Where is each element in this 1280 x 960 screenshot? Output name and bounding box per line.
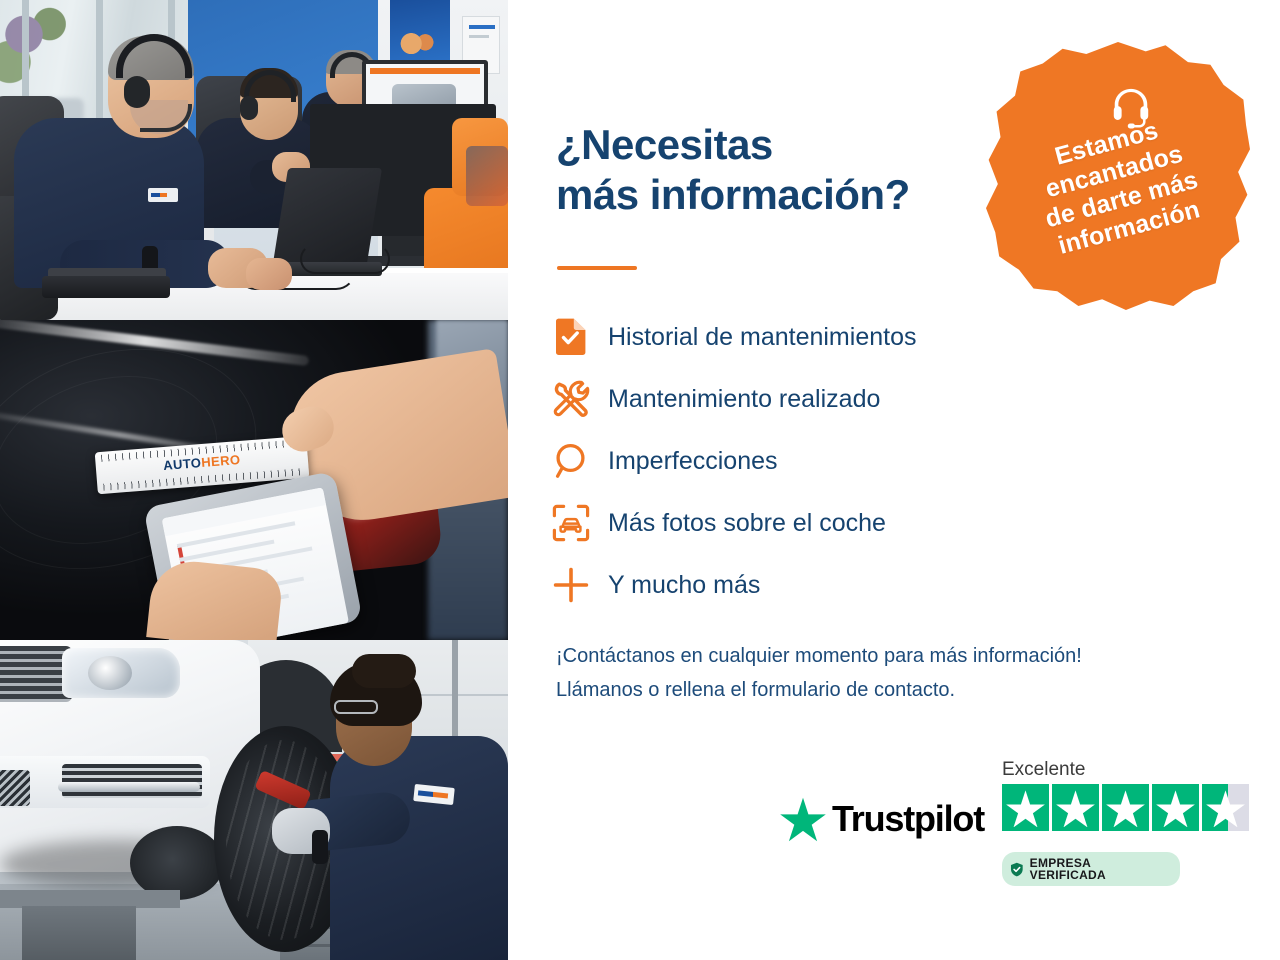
feature-item-mantenimiento: Mantenimiento realizado [552, 368, 1112, 430]
wall-poster [390, 0, 450, 60]
bumper-vent [62, 764, 202, 798]
contact-line-2: Llámanos o rellena el formulario de cont… [556, 679, 955, 701]
feature-label: Y mucho más [608, 570, 760, 600]
mechanic-body [330, 736, 508, 960]
title-underline-rule [557, 266, 637, 270]
contact-paragraph: ¡Contáctanos en cualquier momento para m… [556, 640, 1236, 707]
magnifier-icon [552, 442, 608, 480]
trustpilot-wordmark: Trustpilot [832, 801, 984, 837]
support-badge: Estamos encantados de darte más informac… [986, 42, 1250, 310]
page-title-line-2: más información? [556, 171, 910, 218]
mechanic-hair [352, 654, 416, 688]
desk-cable [300, 244, 390, 274]
car-scan-icon [552, 504, 608, 542]
promo-page: AUTOHERO [0, 0, 1280, 960]
mechanic-watch [312, 830, 328, 864]
star-filled [1152, 784, 1199, 831]
star-filled [1102, 784, 1149, 831]
content-panel: ¿Necesitas más información? Estamos enca… [508, 0, 1280, 960]
background-monitor-bar [370, 68, 480, 74]
feature-label: Mantenimiento realizado [608, 384, 880, 414]
bumper-side-vent [0, 770, 30, 806]
bumper-chrome-trim [58, 782, 200, 792]
headlight-lens [88, 656, 132, 690]
agent-one-hand [246, 258, 292, 290]
plus-icon [552, 566, 608, 604]
trustpilot-stars [1002, 784, 1249, 831]
trustpilot-rating-label: Excelente [1002, 760, 1085, 779]
technician-hand-holding-tablet [146, 557, 284, 640]
verified-company-badge: EMPRESA VERIFICADA [1002, 852, 1180, 886]
trustpilot-block: Trustpilot Excelente [780, 760, 1180, 890]
document-check-icon [552, 318, 608, 356]
draped-fabric [466, 146, 508, 206]
window-greenery [0, 0, 80, 86]
feature-label: Más fotos sobre el coche [608, 508, 886, 538]
feature-label: Historial de mantenimientos [608, 322, 916, 352]
feature-item-mas-fotos: Más fotos sobre el coche [552, 492, 1112, 554]
car-lift-post [22, 906, 136, 960]
feature-item-imperfecciones: Imperfecciones [552, 430, 1112, 492]
page-title: ¿Necesitas más información? [556, 120, 996, 219]
autohero-logo-auto: AUTO [163, 455, 202, 473]
star-filled [1002, 784, 1049, 831]
tools-icon [552, 380, 608, 418]
feature-item-mucho-mas: Y mucho más [552, 554, 1112, 616]
autohero-logo-hero: HERO [201, 452, 241, 470]
verified-company-label: EMPRESA VERIFICADA [1030, 857, 1167, 881]
shield-check-icon [1010, 862, 1024, 877]
photo-column: AUTOHERO [0, 0, 508, 960]
contact-line-1: ¡Contáctanos en cualquier momento para m… [556, 645, 1082, 667]
feature-label: Imperfecciones [608, 446, 778, 476]
workshop-wheel-change-photo [0, 640, 508, 960]
brake-hub [130, 826, 224, 900]
car-inspection-ruler-photo: AUTOHERO [0, 320, 508, 640]
star-filled [1052, 784, 1099, 831]
trustpilot-logo: Trustpilot [780, 796, 984, 842]
mechanic-glasses [334, 700, 378, 714]
agent-one-logo-badge [148, 188, 178, 202]
agent-two-earcup [240, 96, 258, 120]
page-title-line-1: ¿Necesitas [556, 121, 773, 168]
feature-list: Historial de mantenimientos Mantenimient… [552, 306, 1112, 616]
call-center-agents-photo [0, 0, 508, 320]
feature-item-historial: Historial de mantenimientos [552, 306, 1112, 368]
star-partial [1202, 784, 1249, 831]
trustpilot-star-icon [780, 796, 826, 842]
desk-tablet [42, 276, 170, 298]
